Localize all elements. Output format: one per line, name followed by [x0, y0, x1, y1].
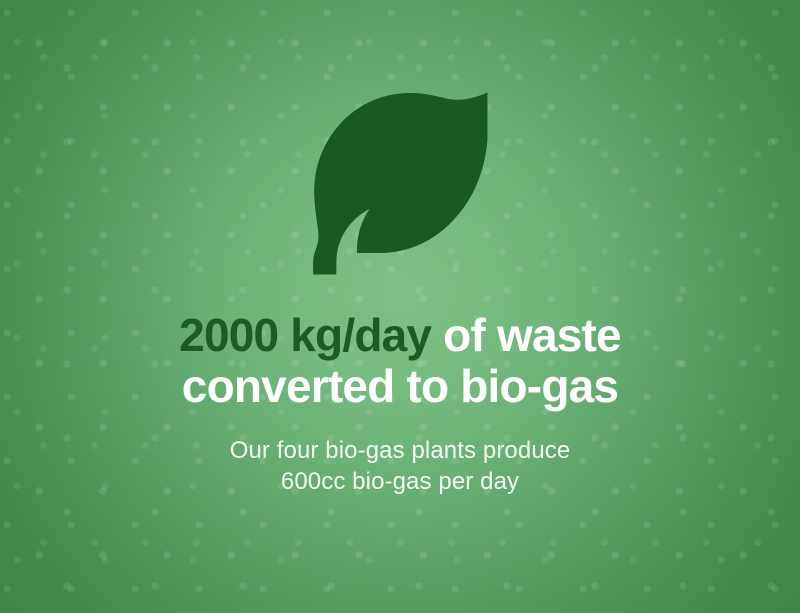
subtitle: Our four bio-gas plants produce 600cc bi…: [0, 412, 800, 497]
headline-line-2: converted to bio-gas: [0, 361, 800, 412]
subtitle-line-1: Our four bio-gas plants produce: [0, 435, 800, 466]
leaf-icon-render: [300, 80, 500, 285]
subtitle-line-2: 600cc bio-gas per day: [0, 466, 800, 497]
text-block: 2000 kg/day of waste converted to bio-ga…: [0, 310, 800, 497]
headline-rest: of waste: [431, 309, 621, 361]
biogas-impact-stat-card: 2000 kg/day of waste converted to bio-ga…: [0, 0, 800, 613]
headline-line-1: 2000 kg/day of waste: [0, 310, 800, 361]
headline-accent-value: 2000 kg/day: [179, 309, 431, 361]
